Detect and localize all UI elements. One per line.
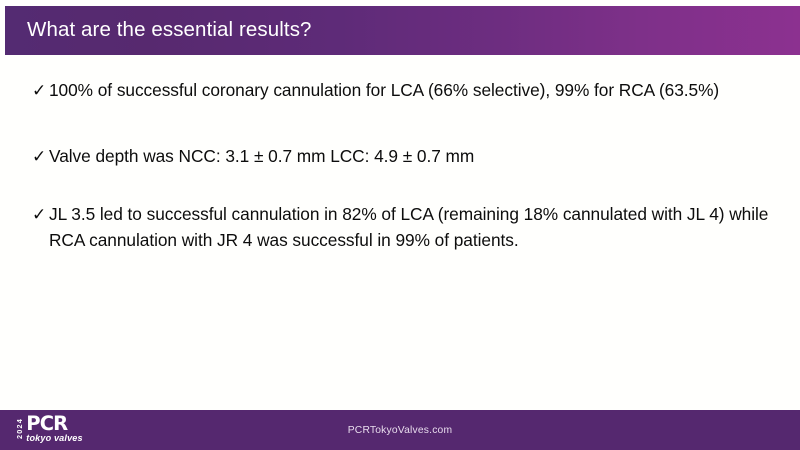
bullet-item: ✓ Valve depth was NCC: 3.1 ± 0.7 mm LCC:…	[32, 144, 772, 170]
bullet-item: ✓ JL 3.5 led to successful cannulation i…	[32, 202, 772, 253]
logo-wordmark: PCR tokyo valves	[26, 415, 82, 444]
logo-tagline: tokyo valves	[26, 433, 82, 444]
logo-name: PCR	[26, 415, 82, 432]
page-title: What are the essential results?	[5, 20, 312, 41]
pcr-logo: 2024 PCR tokyo valves	[16, 415, 83, 445]
bullet-text: JL 3.5 led to successful cannulation in …	[49, 202, 772, 253]
checkmark-icon: ✓	[32, 78, 49, 104]
bullet-text: 100% of successful coronary cannulation …	[49, 78, 719, 104]
logo-year: 2024	[16, 415, 23, 443]
checkmark-icon: ✓	[32, 202, 49, 228]
footer-url: PCRTokyoValves.com	[0, 410, 800, 450]
slide-title-bar: What are the essential results?	[5, 6, 800, 55]
slide: What are the essential results? ✓ 100% o…	[0, 0, 800, 450]
bullet-item: ✓ 100% of successful coronary cannulatio…	[32, 78, 772, 104]
checkmark-icon: ✓	[32, 144, 49, 170]
slide-footer: PCRTokyoValves.com 2024 PCR tokyo valves	[0, 410, 800, 450]
bullet-text: Valve depth was NCC: 3.1 ± 0.7 mm LCC: 4…	[49, 144, 474, 170]
slide-body: ✓ 100% of successful coronary cannulatio…	[0, 78, 800, 253]
